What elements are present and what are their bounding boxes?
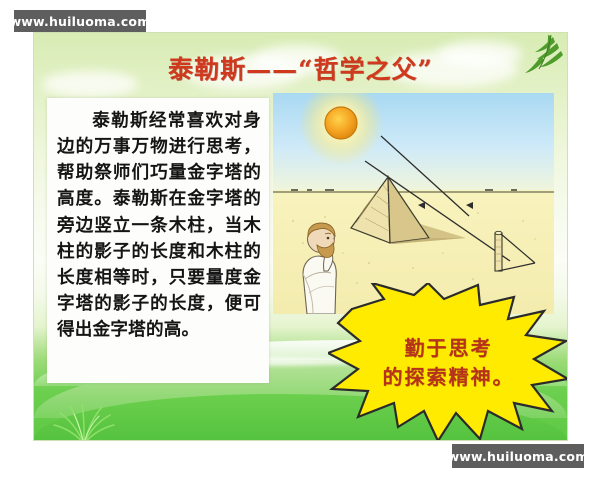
- watermark-bottom: www.huiluoma.com: [452, 444, 584, 468]
- starburst-shape-icon: [328, 283, 568, 441]
- starburst-callout: 勤于思考 的探索精神。: [328, 283, 568, 441]
- pyramid-shadow-diagram-icon: [273, 93, 554, 314]
- watermark-top: www.huiluoma.com: [14, 10, 146, 32]
- pyramid-illustration: [273, 93, 554, 314]
- body-text: 泰勒斯经常喜欢对身边的万事万物进行思考，帮助祭师们巧量金字塔的高度。泰勒斯在金字…: [47, 98, 269, 349]
- presentation-slide: 泰勒斯——“哲学之父” 泰勒斯经常喜欢对身边的万事万物进行思考，帮助祭师们巧量金…: [33, 32, 568, 441]
- body-text-panel: 泰勒斯经常喜欢对身边的万事万物进行思考，帮助祭师们巧量金字塔的高度。泰勒斯在金字…: [47, 98, 269, 383]
- screenshot-root: www.huiluoma.com: [0, 0, 600, 480]
- slide-title: 泰勒斯——“哲学之父”: [34, 50, 567, 86]
- grass-tuft-icon: [48, 394, 122, 441]
